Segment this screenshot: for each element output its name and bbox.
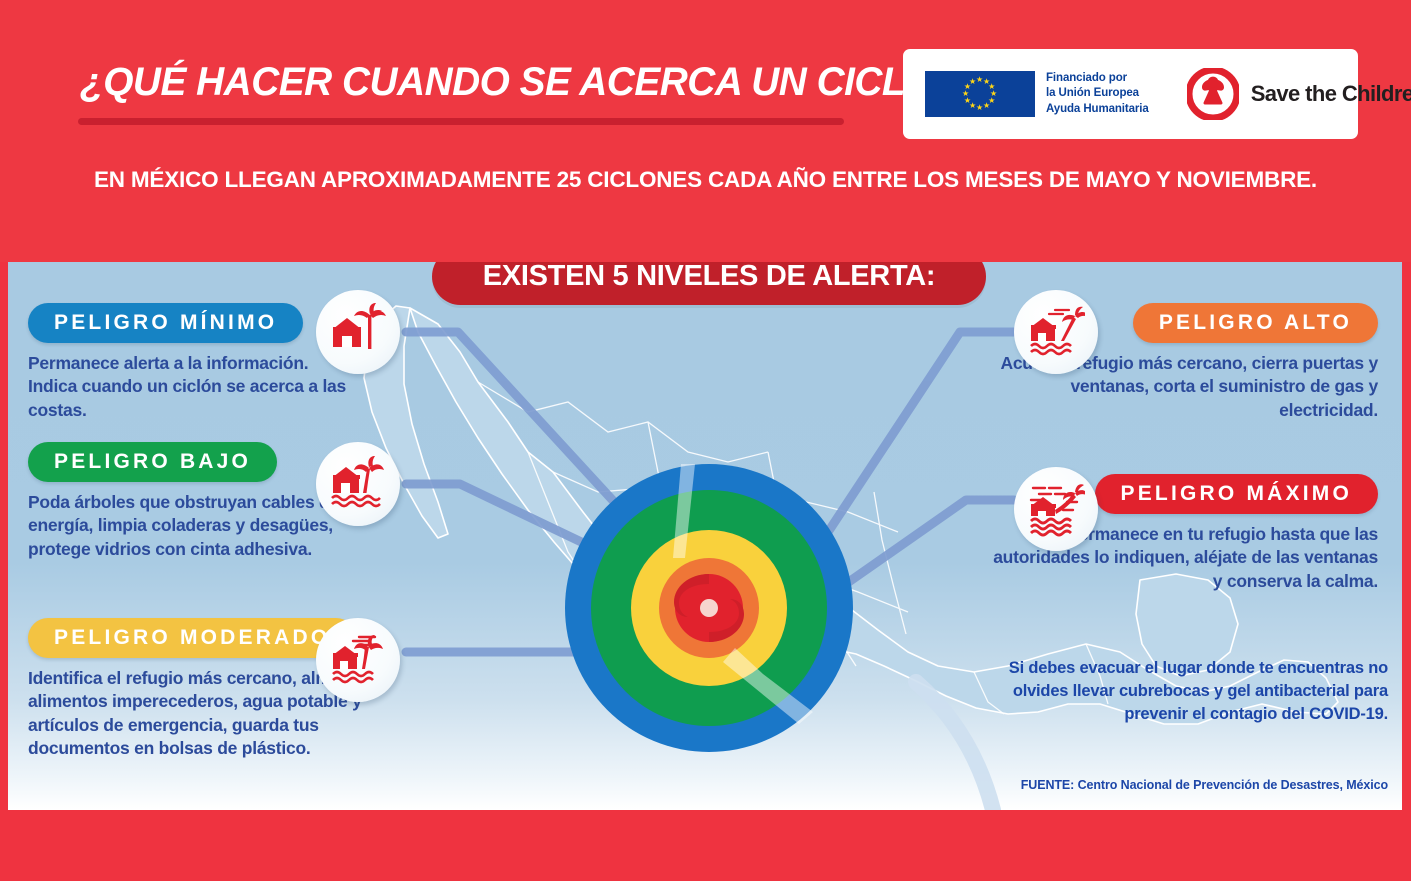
eu-line-1: Financiado por [1046, 71, 1149, 86]
eu-star-icon: ★ [976, 104, 983, 112]
eu-star-icon: ★ [969, 78, 976, 86]
save-the-children-logo-icon [1187, 68, 1239, 120]
header-banner: ¿QUÉ HACER CUANDO SE ACERCA UN CICLÓN? E… [0, 0, 1411, 262]
house-palm-waves-icon [329, 455, 387, 513]
icon-circle-bajo[interactable] [316, 442, 400, 526]
page-title: ¿QUÉ HACER CUANDO SE ACERCA UN CICLÓN? [80, 62, 846, 102]
icon-circle-maximo[interactable] [1014, 467, 1098, 551]
icon-circle-minimo[interactable] [316, 290, 400, 374]
cyclone-alert-rings [563, 462, 855, 754]
house-wind-palm-waves-icon [329, 631, 387, 689]
subtitle-highlight: 25 CICLONES [557, 167, 702, 192]
badge-peligro-bajo[interactable]: PELIGRO BAJO [28, 442, 277, 482]
badge-peligro-alto[interactable]: PELIGRO ALTO [1133, 303, 1378, 343]
desc-peligro-minimo: Permanece alerta a la información. Indic… [28, 352, 360, 422]
icon-circle-alto[interactable] [1014, 290, 1098, 374]
house-flooded-storm-icon [1027, 480, 1085, 538]
eu-line-2: la Unión Europea [1046, 86, 1149, 101]
eu-flag-icon: ★★★★★★★★★★★★ [925, 71, 1035, 117]
subtitle-post: CADA AÑO ENTRE LOS MESES DE MAYO Y NOVIE… [702, 167, 1317, 192]
level-card-moderado[interactable]: PELIGRO MODERADO Identifica el refugio m… [28, 618, 328, 760]
main-panel: EXISTEN 5 NIVELES DE ALERTA: PELIGRO MÍN… [8, 262, 1402, 810]
eu-line-3: Ayuda Humanitaria [1046, 102, 1149, 117]
title-underline [78, 118, 844, 125]
icon-circle-moderado[interactable] [316, 618, 400, 702]
eu-star-icon: ★ [964, 97, 971, 105]
source-credit: FUENTE: Centro Nacional de Prevención de… [968, 778, 1388, 792]
house-palm-icon [329, 303, 387, 361]
subtitle-pre: EN MÉXICO LLEGAN APROXIMADAMENTE [94, 167, 557, 192]
badge-peligro-moderado[interactable]: PELIGRO MODERADO [28, 618, 356, 658]
level-card-bajo[interactable]: PELIGRO BAJO Poda árboles que obstruyan … [28, 442, 328, 561]
badge-peligro-maximo[interactable]: PELIGRO MÁXIMO [1095, 474, 1378, 514]
house-bent-palm-waves-icon [1027, 303, 1085, 361]
logo-box: ★★★★★★★★★★★★ Financiado por la Unión Eur… [903, 49, 1358, 139]
eu-star-icon: ★ [983, 102, 990, 110]
eu-funding-text: Financiado por la Unión Europea Ayuda Hu… [1046, 71, 1149, 117]
level-card-minimo[interactable]: PELIGRO MÍNIMO Permanece alerta a la inf… [28, 303, 328, 422]
badge-peligro-minimo[interactable]: PELIGRO MÍNIMO [28, 303, 303, 343]
alert-levels-banner: EXISTEN 5 NIVELES DE ALERTA: [432, 262, 986, 305]
eu-star-icon: ★ [962, 90, 969, 98]
save-the-children-wordmark: Save the Children [1251, 81, 1411, 107]
covid-note: Si debes evacuar el lugar donde te encue… [968, 657, 1388, 725]
subtitle: EN MÉXICO LLEGAN APROXIMADAMENTE 25 CICL… [0, 167, 1411, 193]
